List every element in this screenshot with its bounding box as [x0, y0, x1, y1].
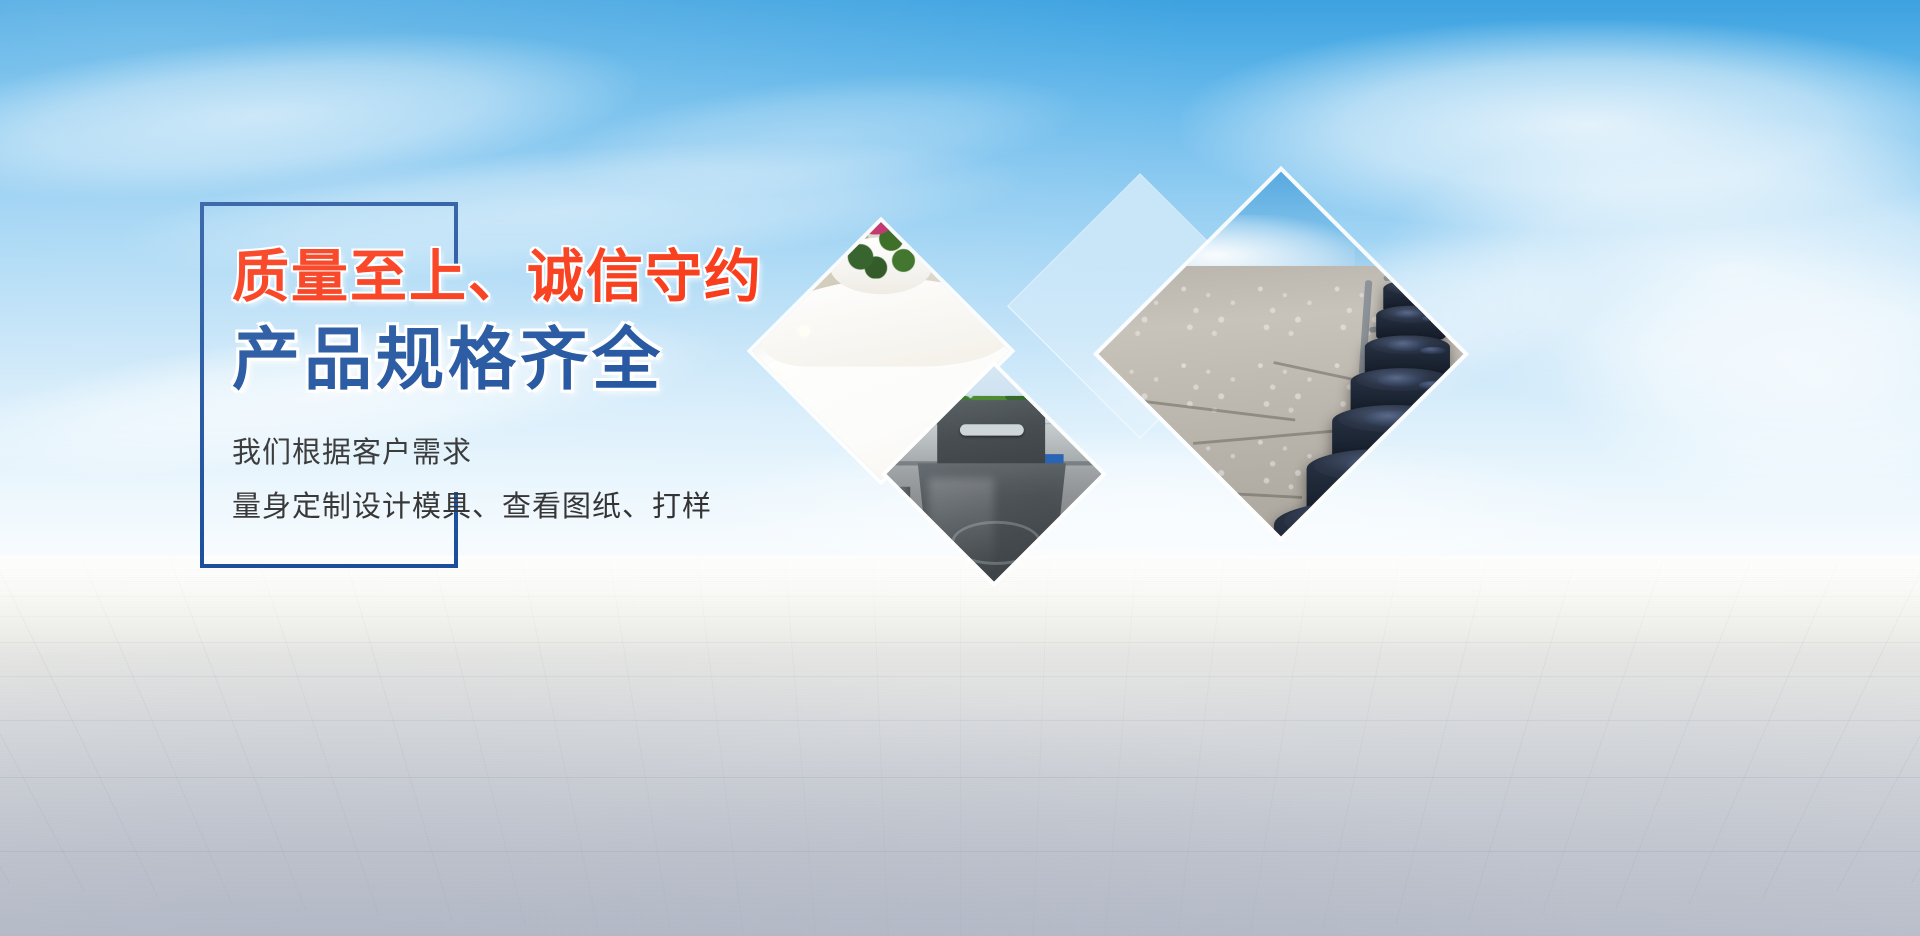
headline-blue: 产品规格齐全: [232, 326, 932, 395]
pavement-grain: [0, 556, 1920, 936]
subtitle-group: 我们根据客户需求 量身定制设计模具、查看图纸、打样: [232, 427, 932, 535]
banner-text-block: 质量至上、诚信守约 产品规格齐全 我们根据客户需求 量身定制设计模具、查看图纸、…: [232, 248, 932, 535]
headline-red: 质量至上、诚信守约: [232, 248, 932, 308]
bin-handle-slot: [959, 424, 1024, 435]
pavement-ground: [0, 556, 1920, 936]
banner-stage: 质量至上、诚信守约 产品规格齐全 我们根据客户需求 量身定制设计模具、查看图纸、…: [0, 0, 1920, 936]
subtitle-line-1: 我们根据客户需求: [232, 427, 932, 481]
subtitle-line-2: 量身定制设计模具、查看图纸、打样: [232, 481, 932, 535]
